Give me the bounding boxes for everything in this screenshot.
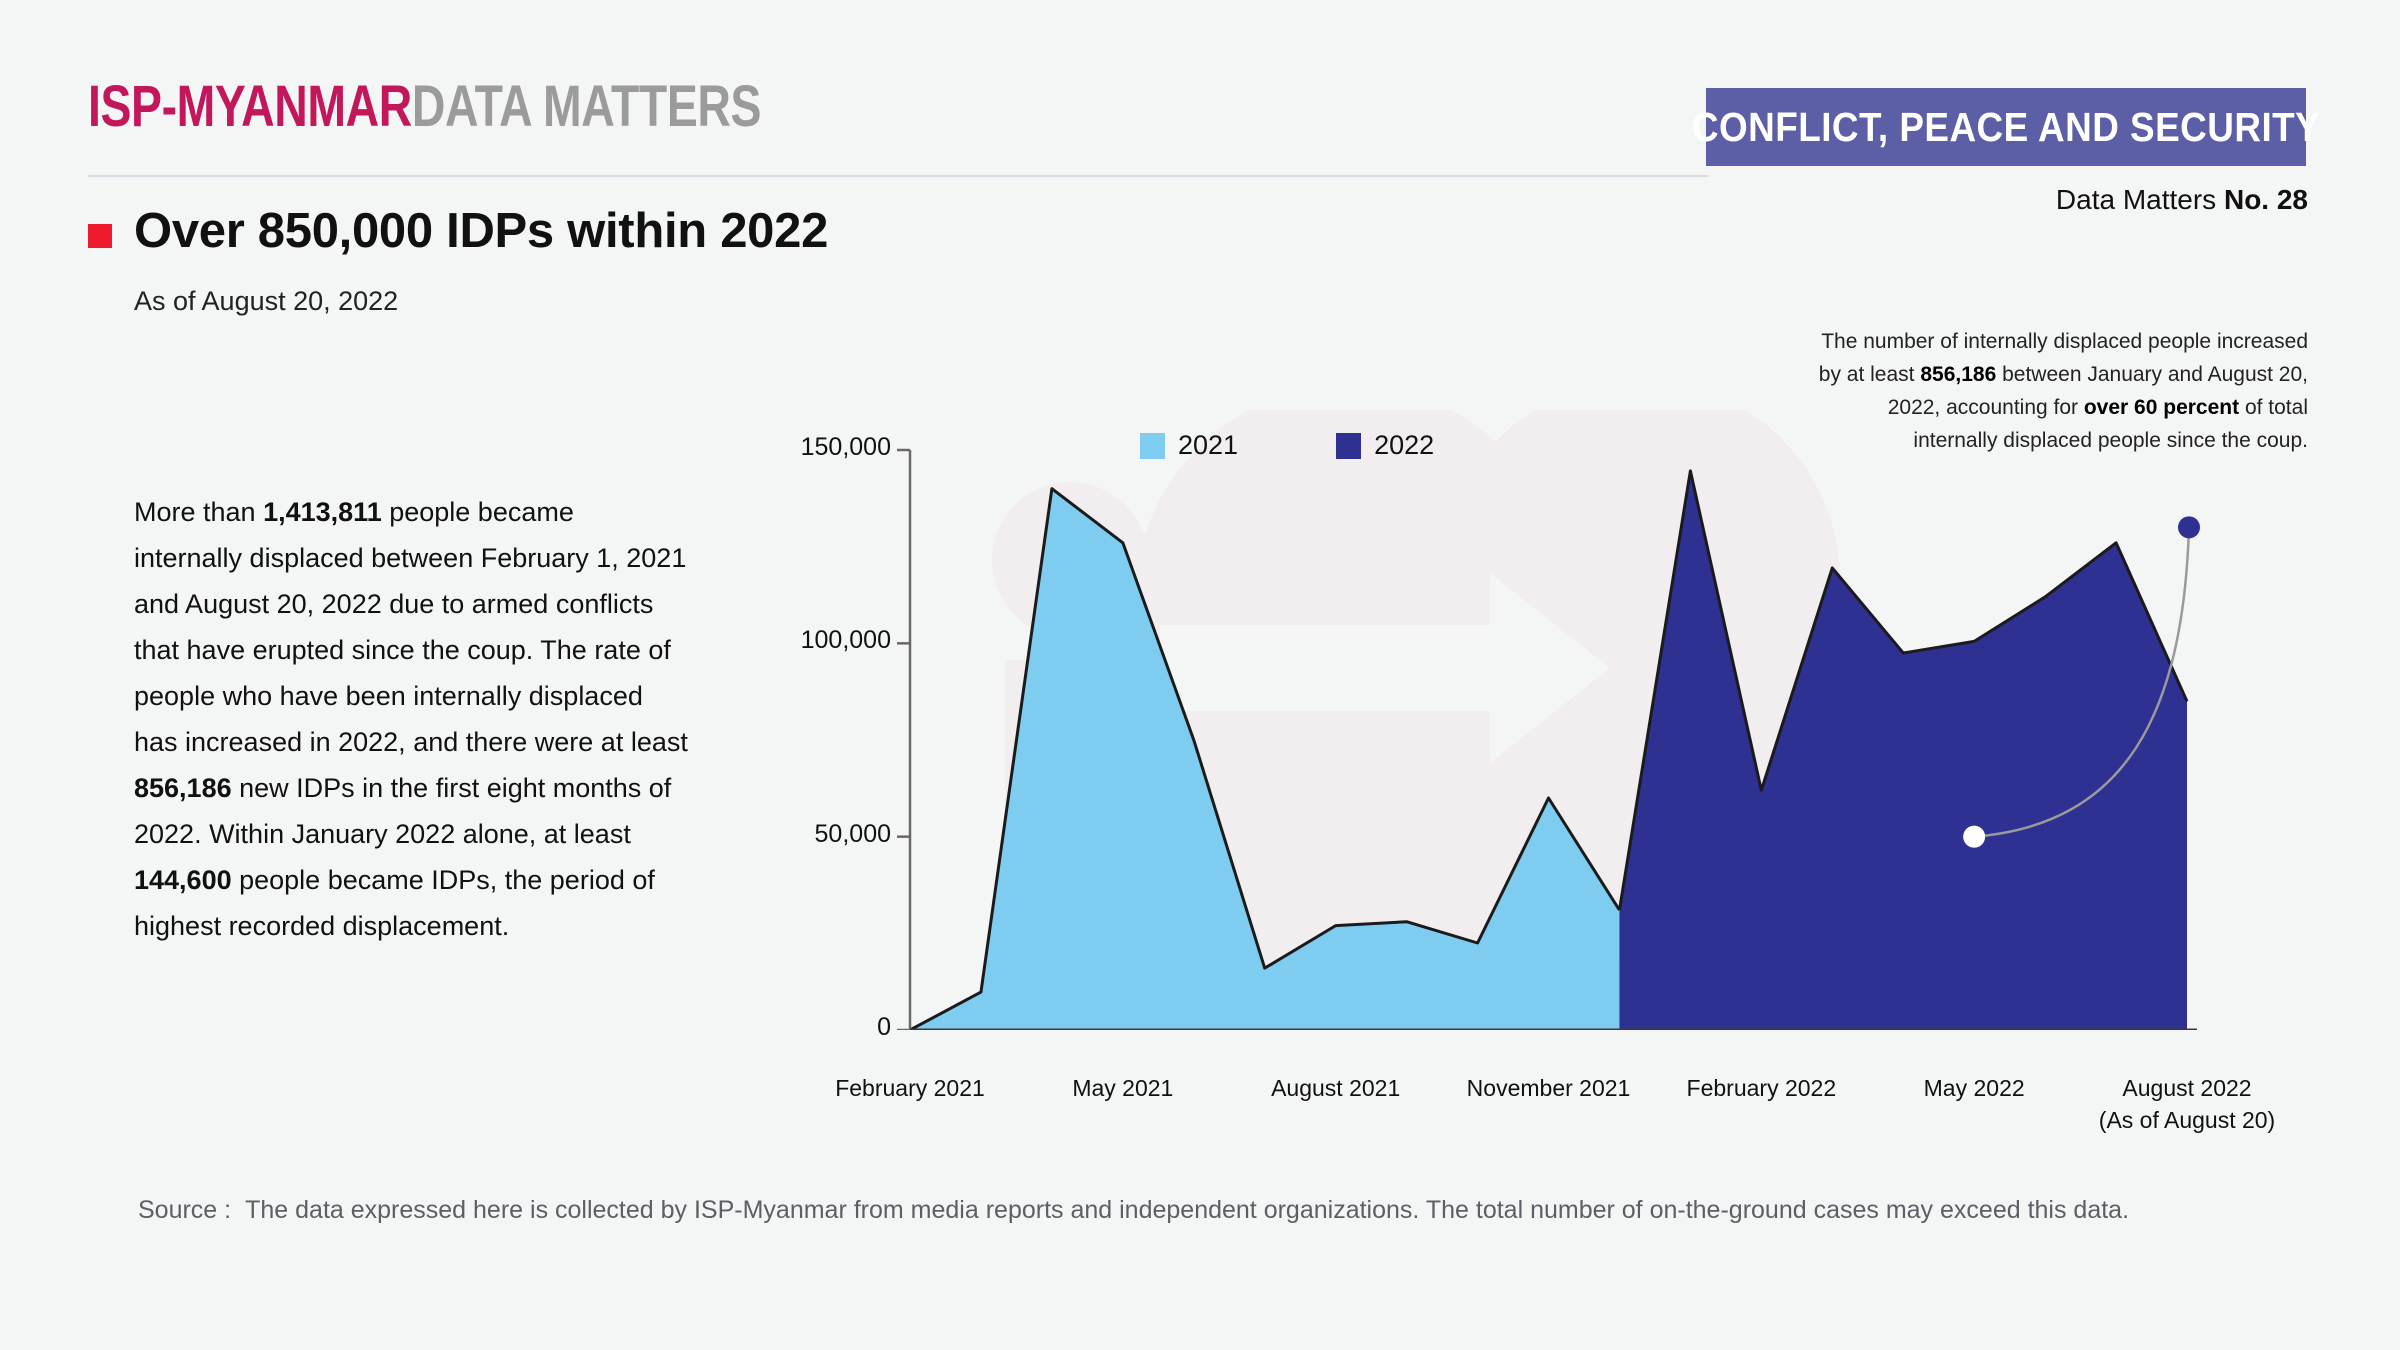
y-tick-label-150000: 150,000 (721, 433, 891, 462)
y-tick-label-50000: 50,000 (721, 820, 891, 849)
narrative-text: More than 1,413,811 people became intern… (134, 489, 689, 949)
source-note: Source :The data expressed here is colle… (138, 1196, 2129, 1225)
y-tick-label-100000: 100,000 (721, 626, 891, 655)
legend-swatch-2021 (1140, 433, 1165, 459)
issue-value: No. 28 (2224, 184, 2308, 215)
source-text: The data expressed here is collected by … (245, 1196, 2129, 1224)
x-tick-label-6: August 2021 (1271, 1072, 1400, 1104)
x-tick-label-18: August 2022(As of August 20) (2099, 1072, 2275, 1136)
idp-area-chart (760, 410, 2320, 1030)
callout-stat-increase: 856,186 (1920, 363, 1996, 386)
page-subtitle: As of August 20, 2022 (134, 286, 398, 317)
x-tick-label-12: February 2022 (1687, 1072, 1837, 1104)
chart-canvas (760, 410, 2320, 1030)
issue-number: Data Matters No. 28 (2056, 184, 2308, 216)
x-tick-sublabel-last: (As of August 20) (2099, 1104, 2275, 1136)
y-tick-label-0: 0 (721, 1013, 891, 1042)
x-tick-label-0: February 2021 (835, 1072, 985, 1104)
category-badge-label: CONFLICT, PEACE AND SECURITY (1692, 104, 2320, 151)
narrative-stat-total: 1,413,811 (263, 497, 382, 527)
legend-item-2022: 2022 (1336, 430, 1434, 461)
legend-item-2021: 2021 (1140, 430, 1238, 461)
title-bullet-icon (88, 224, 112, 248)
navy-dot-marker (2178, 516, 2200, 538)
white-dot-marker (1963, 826, 1985, 848)
narrative-stat-january: 144,600 (134, 865, 232, 895)
source-label: Source : (138, 1196, 231, 1224)
infographic-page: ISP-MYANMARDATA MATTERS CONFLICT, PEACE … (0, 0, 2400, 1350)
brand-primary: ISP-MYANMAR (88, 74, 412, 139)
narrative-stat-2022: 856,186 (134, 773, 232, 803)
page-title: Over 850,000 IDPs within 2022 (134, 203, 828, 259)
x-tick-label-9: November 2021 (1467, 1072, 1631, 1104)
narrative-part-2: people became internally displaced betwe… (134, 497, 688, 757)
legend-label-2021: 2021 (1178, 430, 1238, 461)
x-tick-label-3: May 2021 (1072, 1072, 1173, 1104)
x-tick-label-15: May 2022 (1924, 1072, 2025, 1104)
header-divider (88, 175, 1708, 177)
chart-legend: 2021 2022 (1140, 430, 1434, 461)
legend-label-2022: 2022 (1374, 430, 1434, 461)
legend-swatch-2022 (1336, 433, 1361, 459)
brand-logo: ISP-MYANMARDATA MATTERS (88, 78, 761, 136)
category-badge: CONFLICT, PEACE AND SECURITY (1706, 88, 2306, 166)
brand-secondary: DATA MATTERS (412, 74, 761, 139)
narrative-part-1: More than (134, 497, 263, 527)
issue-prefix: Data Matters (2056, 184, 2224, 215)
